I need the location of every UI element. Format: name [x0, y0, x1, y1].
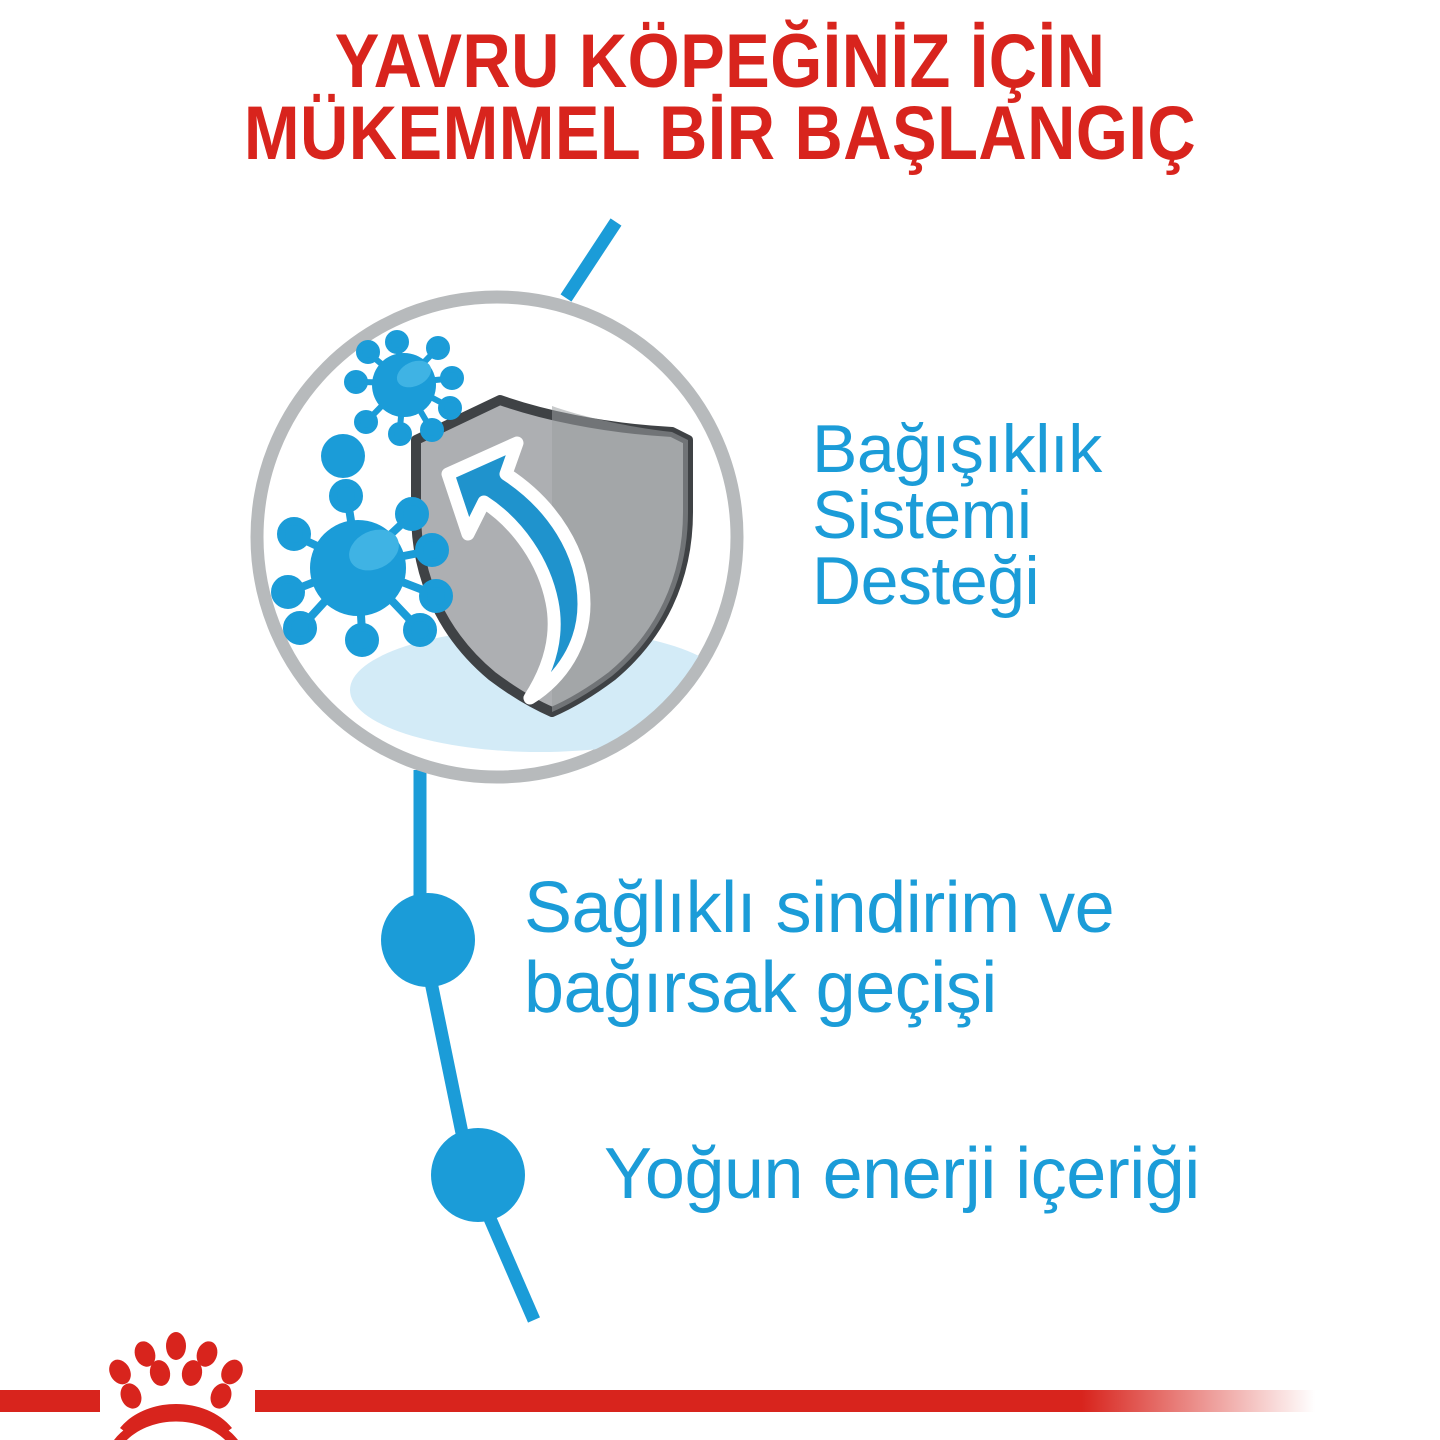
feature-label-digestion: Sağlıklı sindirim ve bağırsak geçişi — [524, 868, 1114, 1028]
feature-2-line-1: Sağlıklı sindirim ve — [524, 868, 1114, 948]
feature-1-line-3: Desteği — [812, 548, 1102, 614]
feature-label-energy: Yoğun enerji içeriği — [604, 1134, 1200, 1214]
connector-line-top — [566, 222, 616, 298]
feature-1-line-1: Bağışıklık — [812, 416, 1102, 482]
feature-1-line-2: Sistemi — [812, 482, 1102, 548]
feature-3-line-1: Yoğun enerji içeriği — [604, 1134, 1200, 1214]
footer-bar-right — [255, 1390, 1315, 1412]
connector-dot-2-icon — [431, 1128, 525, 1222]
artwork-layer — [0, 0, 1440, 1440]
poster-canvas: YAVRU KÖPEĞİNİZ İÇİN MÜKEMMEL BİR BAŞLAN… — [0, 0, 1440, 1440]
footer-bar-left — [0, 1390, 100, 1412]
immunity-shield-icon — [257, 297, 737, 777]
feature-label-immunity: Bağışıklık Sistemi Desteği — [812, 416, 1102, 614]
royal-canin-logo-bar — [0, 1332, 1315, 1440]
virus-dot-icon — [321, 434, 365, 478]
royal-canin-crown-icon — [105, 1332, 247, 1440]
feature-2-line-2: bağırsak geçişi — [524, 948, 1114, 1028]
connector-dot-1-icon — [381, 893, 475, 987]
